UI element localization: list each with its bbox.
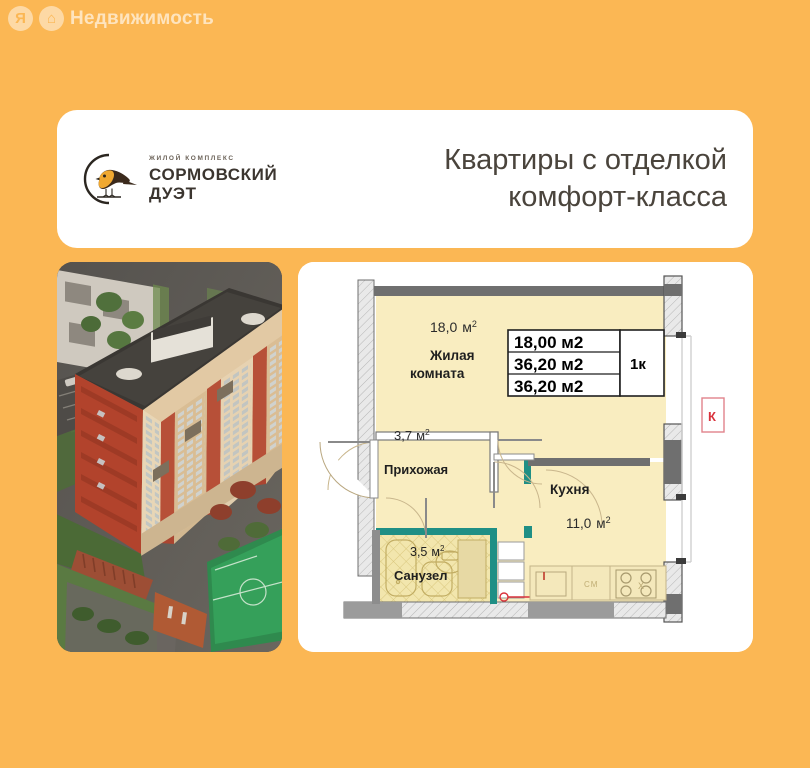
room-name-bathroom: Санузел — [394, 568, 447, 583]
room-name-living: Жилая — [429, 348, 474, 363]
room-name-living-2: комната — [410, 366, 465, 381]
watermark-label: Недвижимость — [70, 8, 214, 30]
realty-house-badge-icon: ⌂ — [39, 6, 64, 31]
yandex-realty-watermark: Я ⌂ Недвижимость — [8, 6, 214, 31]
summary-total-area: 36,20 м2 — [514, 355, 583, 374]
building-render-image — [57, 262, 282, 652]
svg-text:К: К — [708, 409, 716, 424]
summary-total-area-with-balcony: 36,20 м2 — [514, 377, 583, 396]
room-area-hallway: 3,7м2 — [394, 427, 430, 443]
room-name-hallway: Прихожая — [384, 462, 448, 477]
floorplan-card: СМ Х 18,0м2 Жилая комната 3,7м2 Прихожая… — [298, 262, 753, 652]
area-summary-table: 18,00 м2 36,20 м2 36,20 м2 1к — [508, 330, 664, 396]
floorplan-drawing[interactable]: СМ Х 18,0м2 Жилая комната 3,7м2 Прихожая… — [298, 262, 753, 652]
yandex-badge-icon: Я — [8, 6, 33, 31]
svg-text:СМ: СМ — [584, 580, 598, 589]
summary-living-area: 18,00 м2 — [514, 333, 583, 352]
headline-line-2: комфорт-класса — [379, 179, 727, 216]
bird-in-arc-logo-icon — [79, 149, 139, 209]
room-area-kitchen: 11,0м2 — [566, 515, 611, 531]
building-photo — [57, 262, 282, 652]
brand-block: ЖИЛОЙ КОМПЛЕКС СОРМОВСКИЙ ДУЭТ — [57, 149, 379, 209]
rooms-badge: 1к — [630, 356, 646, 373]
room-name-kitchen: Кухня — [550, 482, 589, 497]
page-title: Квартиры с отделкой комфорт-класса — [379, 142, 753, 216]
room-area-living: 18,0м2 — [430, 319, 477, 335]
balcony-marker: К — [702, 398, 724, 432]
brand-name-line-2: ДУЭТ — [149, 185, 277, 202]
brand-eyebrow: ЖИЛОЙ КОМПЛЕКС — [149, 156, 277, 163]
brand-name-line-1: СОРМОВСКИЙ — [149, 166, 277, 183]
headline-line-1: Квартиры с отделкой — [379, 142, 727, 179]
svg-text:Х: Х — [638, 581, 644, 591]
header-card: ЖИЛОЙ КОМПЛЕКС СОРМОВСКИЙ ДУЭТ Квартиры … — [57, 110, 753, 248]
brand-text: ЖИЛОЙ КОМПЛЕКС СОРМОВСКИЙ ДУЭТ — [149, 156, 277, 203]
